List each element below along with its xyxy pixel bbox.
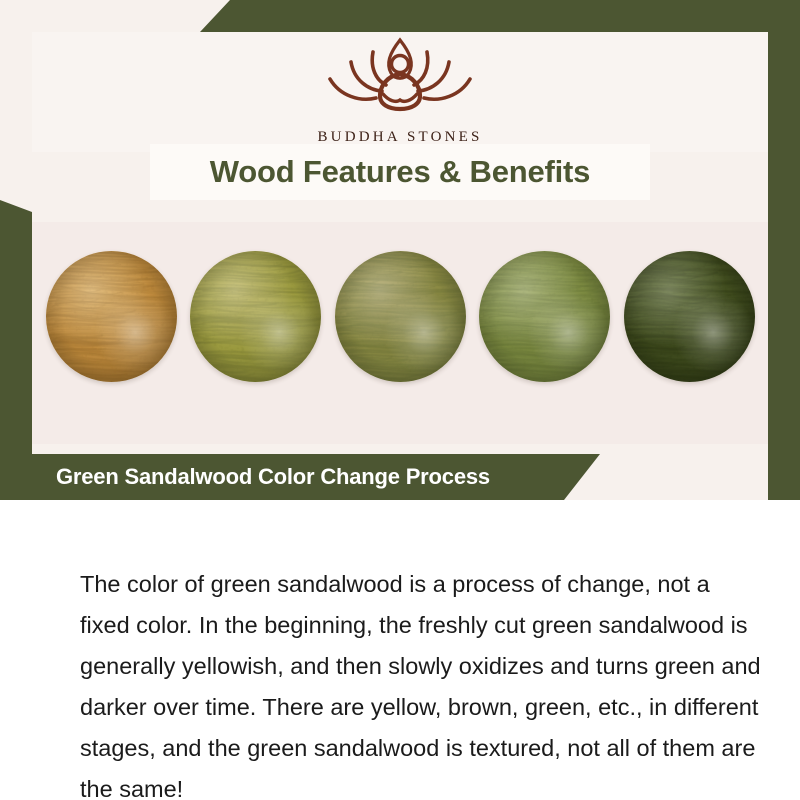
infographic-root: BUDDHA STONES Wood Features & Benefits [0, 0, 800, 800]
bead-row [32, 246, 768, 386]
section-heading-banner: Green Sandalwood Color Change Process [0, 454, 600, 500]
page-title-plate: Wood Features & Benefits [150, 144, 650, 200]
lotus-meditation-icon [310, 30, 490, 127]
bead-stage-5-dark-green [624, 251, 755, 382]
bead-stage-3-olive [335, 251, 466, 382]
bead-stage-2-yellow-green [190, 251, 321, 382]
brand-logo-block: BUDDHA STONES [32, 32, 768, 152]
section-heading: Green Sandalwood Color Change Process [56, 464, 490, 490]
page-title: Wood Features & Benefits [210, 154, 590, 190]
description-inner: The color of green sandalwood is a proce… [80, 540, 764, 800]
bead-stage-1-yellow [46, 251, 177, 382]
bead-stage-4-green [479, 251, 610, 382]
content-canvas: BUDDHA STONES Wood Features & Benefits [32, 32, 768, 766]
description-paragraph: The color of green sandalwood is a proce… [80, 564, 764, 800]
description-card: The color of green sandalwood is a proce… [0, 500, 800, 800]
bead-gallery [32, 222, 768, 444]
frame-top-bar [200, 0, 800, 32]
